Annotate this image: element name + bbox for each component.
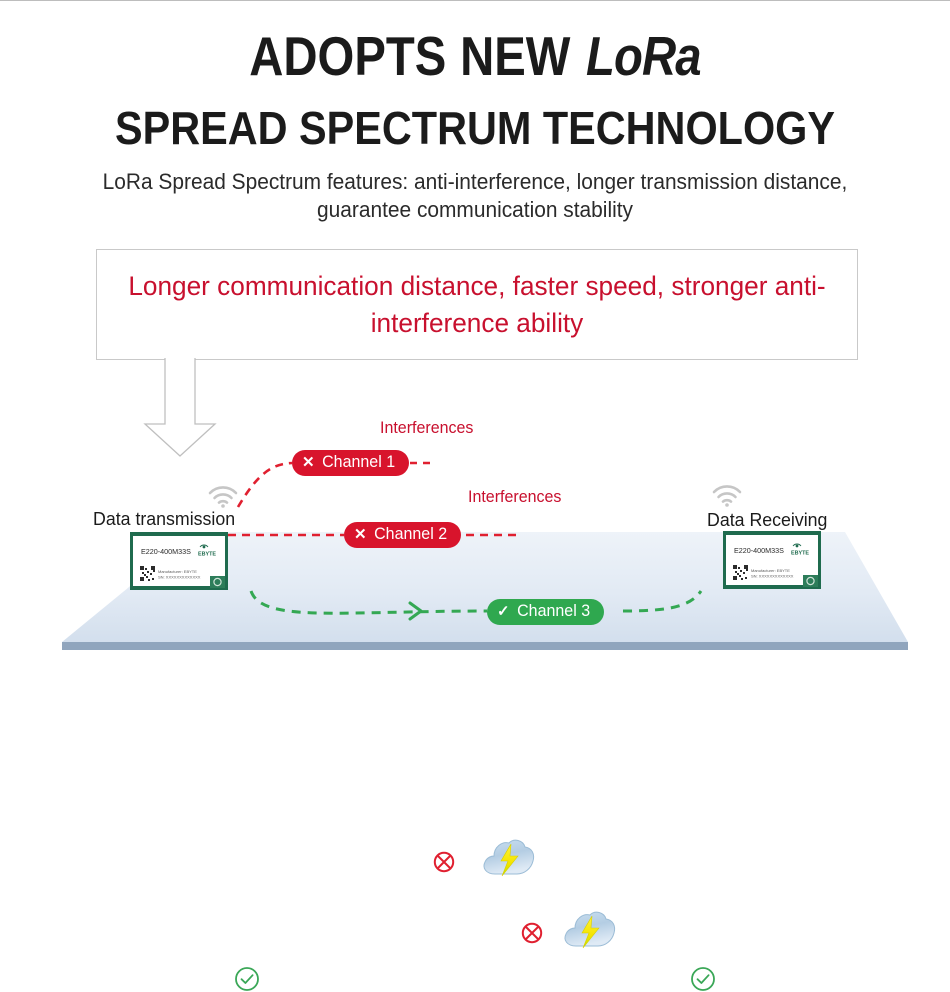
title-word-new: NEW <box>460 25 570 87</box>
wifi-signal-icon <box>208 486 238 508</box>
lora-module-receiver: E220-400M33S EBYTE Manufacturer: EBYTE S… <box>723 531 821 589</box>
poster-canvas: ADOPTSNEWLoRa SPREAD SPECTRUM TECHNOLOGY… <box>0 1 950 691</box>
highlight-callout-text: Longer communication distance, faster sp… <box>108 268 845 341</box>
blocked-icon-channel1 <box>433 851 455 873</box>
channel-badge-label: Channel 1 <box>322 454 395 471</box>
label-interferences-2: Interferences <box>468 488 561 507</box>
label-data-receiving: Data Receiving <box>707 509 827 531</box>
svg-text:Manufacturer: EBYTE: Manufacturer: EBYTE <box>751 568 790 573</box>
blocked-icon-channel2 <box>521 922 543 944</box>
cross-icon: ✕ <box>354 527 367 542</box>
storm-cloud-icon <box>562 907 616 953</box>
svg-text:SN: XXXXXXXXXXXXX: SN: XXXXXXXXXXXXX <box>158 575 201 580</box>
channel-badge-label: Channel 3 <box>517 603 590 620</box>
title-word-adopts: ADOPTS <box>249 25 446 87</box>
channel-badge-3[interactable]: ✓ Channel 3 <box>487 599 604 625</box>
check-icon: ✓ <box>497 604 510 619</box>
lora-module-transmitter: E220-400M33S EBYTE Manufacturer: EBYTE S… <box>130 532 228 590</box>
storm-cloud-icon <box>481 835 535 881</box>
svg-text:EBYTE: EBYTE <box>198 552 216 558</box>
channel-badge-2[interactable]: ✕ Channel 2 <box>344 522 461 548</box>
channel-badge-label: Channel 2 <box>374 526 447 543</box>
page-title-line1: ADOPTSNEWLoRa <box>67 29 884 84</box>
svg-text:E220-400M33S: E220-400M33S <box>141 547 191 556</box>
page-title-line2: SPREAD SPECTRUM TECHNOLOGY <box>48 105 903 151</box>
ok-check-icon <box>690 966 716 992</box>
cross-icon: ✕ <box>302 455 315 470</box>
label-data-transmission: Data transmission <box>93 508 235 530</box>
wifi-signal-icon <box>712 485 742 507</box>
title-brand-lora: LoRa <box>586 25 701 87</box>
svg-text:EBYTE: EBYTE <box>791 551 809 557</box>
ok-check-icon <box>234 966 260 992</box>
label-interferences-1: Interferences <box>380 419 473 438</box>
svg-text:E220-400M33S: E220-400M33S <box>734 546 784 555</box>
highlight-callout-box: Longer communication distance, faster sp… <box>96 249 858 360</box>
svg-text:SN: XXXXXXXXXXXXX: SN: XXXXXXXXXXXXX <box>751 574 794 579</box>
page-subtitle: LoRa Spread Spectrum features: anti-inte… <box>71 168 879 224</box>
channel-badge-1[interactable]: ✕ Channel 1 <box>292 450 409 476</box>
svg-text:Manufacturer: EBYTE: Manufacturer: EBYTE <box>158 569 197 574</box>
